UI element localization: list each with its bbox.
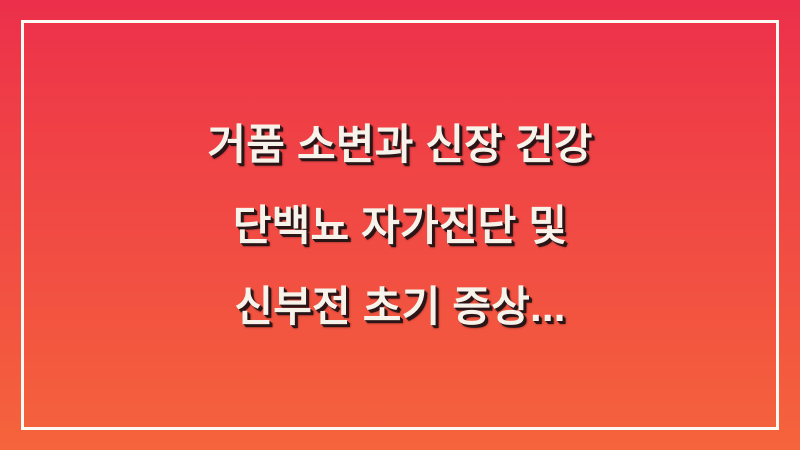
thumbnail-card: 거품 소변과 신장 건강 단백뇨 자가진단 및 신부전 초기 증상... [0, 0, 800, 450]
title-block: 거품 소변과 신장 건강 단백뇨 자가진단 및 신부전 초기 증상... [0, 0, 800, 450]
title-line-2: 단백뇨 자가진단 및 [60, 185, 740, 266]
title-line-1: 거품 소변과 신장 건강 [60, 104, 740, 185]
title-line-3: 신부전 초기 증상... [60, 266, 740, 347]
